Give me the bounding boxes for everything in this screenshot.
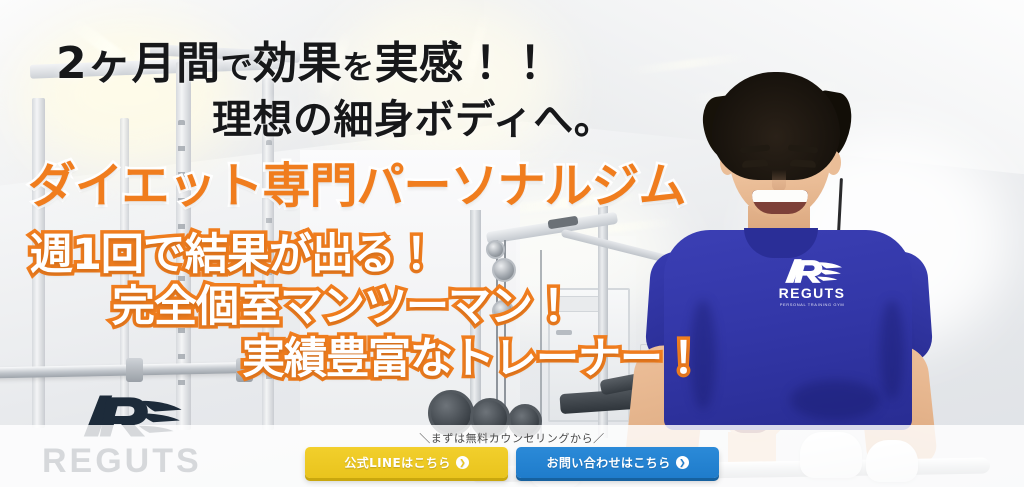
power-rack-holes <box>178 120 185 400</box>
trainer-smile <box>752 190 808 214</box>
shirt-logo-text: REGUTS <box>760 286 864 300</box>
shirt-logo-subtext: PERSONAL TRAINING GYM <box>760 302 864 307</box>
barbell-collar <box>126 358 143 382</box>
chevron-right-circle-icon: ❯ <box>676 456 689 469</box>
barbell-collar <box>236 358 253 382</box>
official-line-button-label: 公式LINEはこちら <box>344 454 450 471</box>
cable-wire <box>540 250 542 440</box>
cta-button-row: 公式LINEはこちら ❯ お問い合わせはこちら ❯ <box>0 447 1024 478</box>
shirt-reguts-logo: REGUTS PERSONAL TRAINING GYM <box>760 256 864 318</box>
power-rack-post <box>32 98 45 428</box>
door-handle <box>556 330 572 335</box>
cable-pulley <box>492 300 514 322</box>
contact-button[interactable]: お問い合わせはこちら ❯ <box>516 447 719 478</box>
hero-banner: REGUTS PERSONAL TRAINING GYM <box>0 0 1024 487</box>
contact-button-label: お問い合わせはこちら <box>546 454 670 471</box>
chevron-right-circle-icon: ❯ <box>456 456 469 469</box>
cable-pulley <box>486 240 505 259</box>
trainer-hair <box>712 72 840 180</box>
reguts-wing-r-mark-icon <box>760 256 864 286</box>
official-line-button[interactable]: 公式LINEはこちら ❯ <box>305 447 508 478</box>
door-panel <box>556 296 600 312</box>
cable-pulley <box>492 258 516 282</box>
cta-bar: ＼まずは無料カウンセリングから／ 公式LINEはこちら ❯ お問い合わせはこちら… <box>0 425 1024 487</box>
cta-caption: ＼まずは無料カウンセリングから／ <box>0 430 1024 446</box>
trainer-nose <box>772 170 786 192</box>
back-wall <box>300 150 520 440</box>
